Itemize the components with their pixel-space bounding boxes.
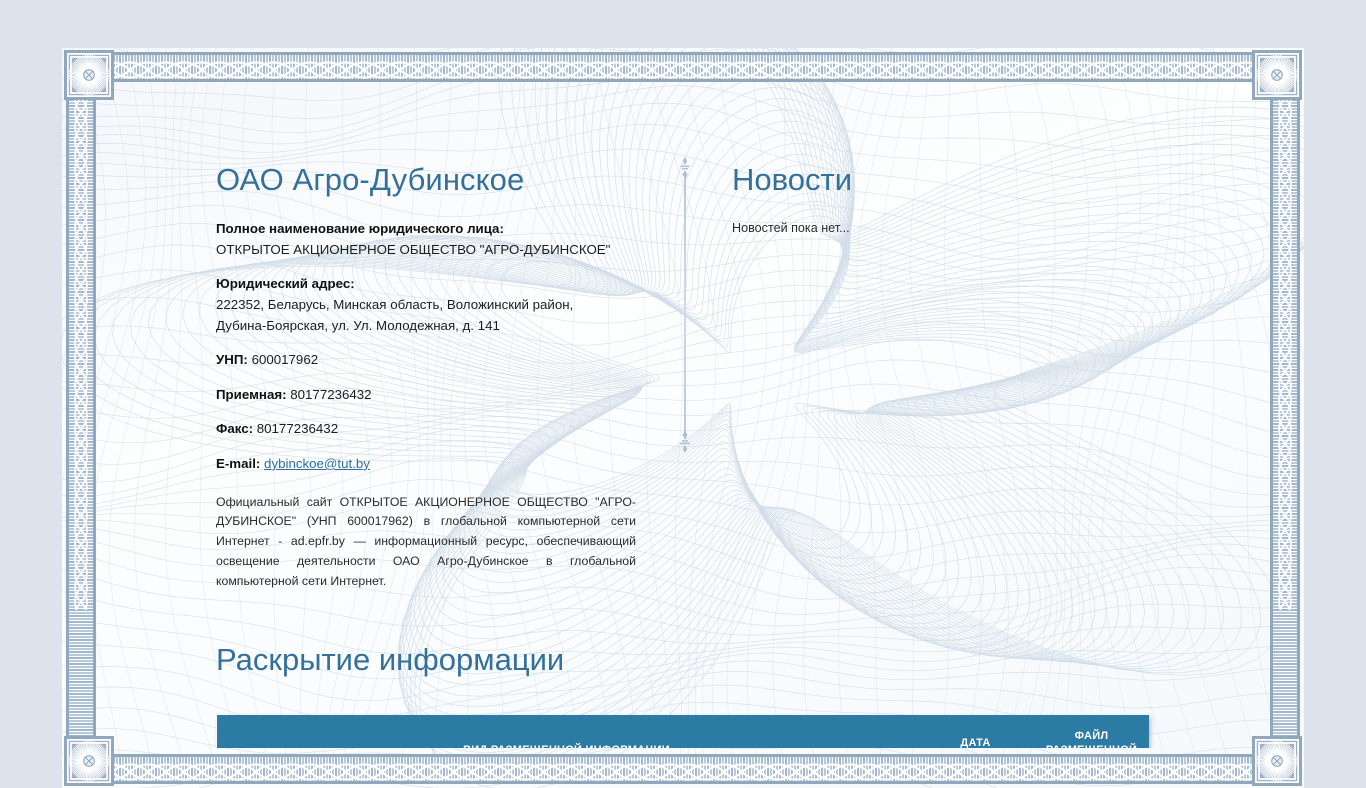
border-band-top bbox=[112, 52, 1254, 82]
fax-value: 80177236432 bbox=[257, 421, 338, 436]
reception-label: Приемная: bbox=[216, 387, 287, 402]
column-header-kind: ВИД РАЗМЕЩЕННОЙ ИНФОРМАЦИИ bbox=[217, 715, 917, 748]
disclosure-section: Раскрытие информации ВИД РАЗМЕЩЕННОЙ ИНФ… bbox=[216, 643, 1226, 748]
address-label: Юридический адрес: bbox=[216, 274, 636, 295]
disclosure-section-title: Раскрытие информации bbox=[216, 643, 1226, 677]
news-title: Новости bbox=[732, 163, 1152, 197]
divider-finial-bottom-icon bbox=[679, 431, 691, 453]
disclosure-table: ВИД РАЗМЕЩЕННОЙ ИНФОРМАЦИИ ДАТА РАЗМЕЩЕН… bbox=[216, 715, 1149, 748]
news-column: Новости Новостей пока нет... bbox=[732, 163, 1152, 235]
column-header-file: ФАЙЛ РАЗМЕЩЕННОЙ ИНФОРМАЦИИ bbox=[1035, 715, 1149, 748]
corner-rosette-top-right-icon bbox=[1252, 50, 1302, 100]
field-full-name: Полное наименование юридического лица: О… bbox=[216, 219, 636, 260]
field-fax: Факс: 80177236432 bbox=[216, 419, 636, 440]
divider-finial-top-icon bbox=[679, 157, 691, 179]
corner-rosette-bottom-left-icon bbox=[64, 736, 114, 786]
vertical-divider bbox=[684, 171, 686, 439]
table-header-row: ВИД РАЗМЕЩЕННОЙ ИНФОРМАЦИИ ДАТА РАЗМЕЩЕН… bbox=[217, 715, 1149, 748]
corner-rosette-bottom-right-icon bbox=[1252, 736, 1302, 786]
border-band-left bbox=[66, 98, 96, 738]
field-unp: УНП: 600017962 bbox=[216, 350, 636, 371]
border-band-right bbox=[1270, 98, 1300, 738]
address-line-1: 222352, Беларусь, Минская область, Волож… bbox=[216, 297, 573, 312]
disclosure-table-head: ВИД РАЗМЕЩЕННОЙ ИНФОРМАЦИИ ДАТА РАЗМЕЩЕН… bbox=[217, 715, 1149, 748]
page-content: ОАО Агро-Дубинское Полное наименование ю… bbox=[102, 88, 1264, 748]
address-line-2: Дубина-Боярская, ул. Ул. Молодежная, д. … bbox=[216, 318, 500, 333]
certificate-sheet: ОАО Агро-Дубинское Полное наименование ю… bbox=[62, 48, 1304, 788]
email-link[interactable]: dybinckoe@tut.by bbox=[264, 456, 370, 471]
email-label: E-mail: bbox=[216, 456, 260, 471]
border-band-bottom bbox=[112, 754, 1254, 784]
field-reception: Приемная: 80177236432 bbox=[216, 385, 636, 406]
field-email: E-mail: dybinckoe@tut.by bbox=[216, 454, 636, 475]
corner-rosette-top-left-icon bbox=[64, 50, 114, 100]
column-header-date: ДАТА РАЗМЕЩЕНИЯ bbox=[917, 715, 1035, 748]
company-info-column: ОАО Агро-Дубинское Полное наименование ю… bbox=[216, 163, 636, 592]
about-paragraph: Официальный сайт ОТКРЫТОЕ АКЦИОНЕРНОЕ ОБ… bbox=[216, 493, 636, 593]
fax-label: Факс: bbox=[216, 421, 253, 436]
unp-value: 600017962 bbox=[252, 352, 319, 367]
news-empty-message: Новостей пока нет... bbox=[732, 221, 1152, 235]
page-title: ОАО Агро-Дубинское bbox=[216, 163, 636, 197]
unp-label: УНП: bbox=[216, 352, 248, 367]
full-name-value: ОТКРЫТОЕ АКЦИОНЕРНОЕ ОБЩЕСТВО "АГРО-ДУБИ… bbox=[216, 242, 610, 257]
full-name-label: Полное наименование юридического лица: bbox=[216, 219, 636, 240]
reception-value: 80177236432 bbox=[290, 387, 371, 402]
field-address: Юридический адрес: 222352, Беларусь, Мин… bbox=[216, 274, 636, 336]
